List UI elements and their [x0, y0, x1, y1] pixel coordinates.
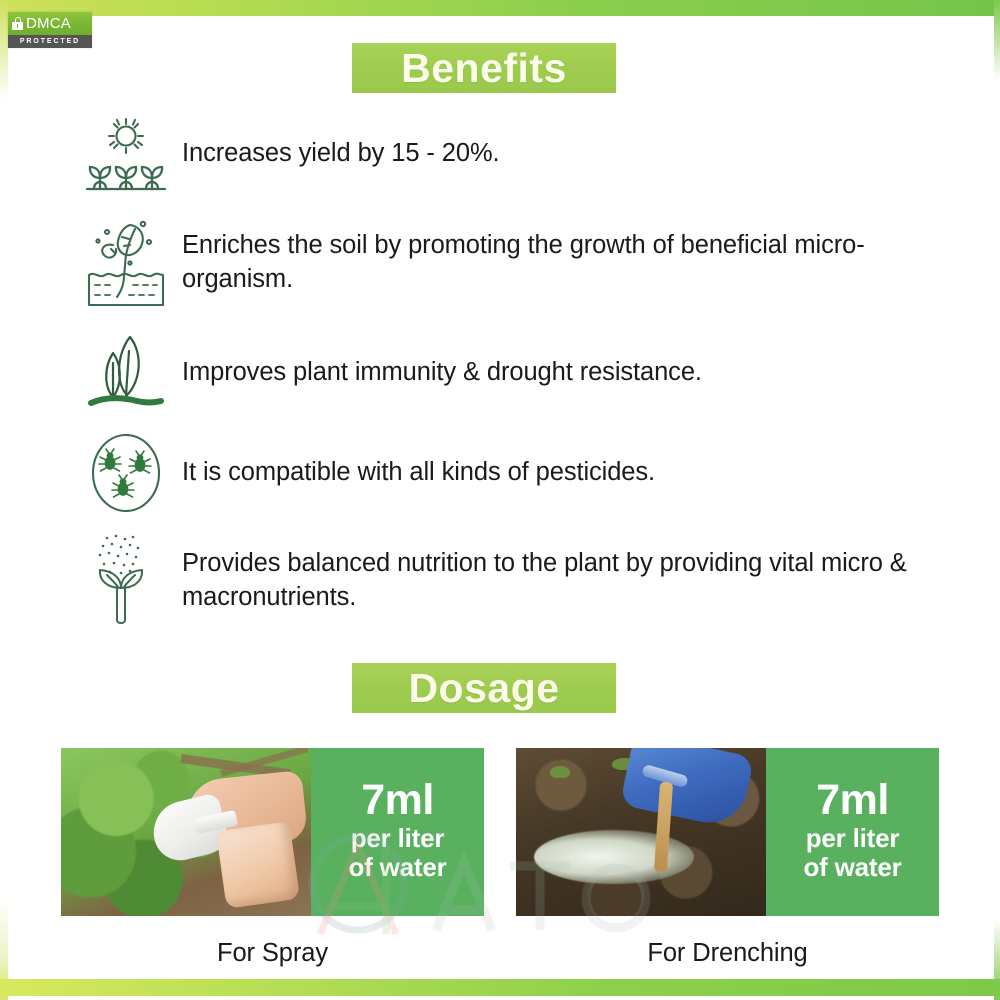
benefit-text: It is compatible with all kinds of pesti…	[174, 456, 655, 490]
top-border-strip	[0, 0, 1000, 16]
dosage-title: Dosage	[408, 668, 559, 709]
spray-over-plant-icon	[78, 532, 174, 630]
benefit-item: It is compatible with all kinds of pesti…	[78, 427, 958, 519]
dosage-card-spray: 7ml per liter of water For Spray	[61, 748, 484, 968]
dmca-badge-top: DMCA	[8, 12, 92, 35]
dosage-amount-panel: 7ml per liter of water	[766, 748, 939, 916]
dosage-card-caption: For Spray	[61, 939, 484, 968]
benefits-section-banner: Benefits	[352, 43, 616, 93]
dosage-unit-line-2: of water	[803, 853, 901, 881]
benefit-text: Increases yield by 15 - 20%.	[174, 137, 500, 171]
benefit-item: Increases yield by 15 - 20%.	[78, 108, 958, 200]
dosage-unit-line-1: per liter	[351, 824, 445, 852]
dosage-unit-line-2: of water	[348, 853, 446, 881]
dosage-section-banner: Dosage	[352, 663, 616, 713]
hand-spraying-plants-photo	[61, 748, 311, 916]
plant-in-soil-icon	[78, 215, 174, 311]
benefit-text: Enriches the soil by promoting the growt…	[174, 229, 958, 296]
benefit-item: Improves plant immunity & drought resist…	[78, 325, 958, 421]
sun-over-seedlings-icon	[78, 115, 174, 193]
two-leaves-icon	[78, 331, 174, 415]
dosage-card-caption: For Drenching	[516, 939, 939, 968]
benefit-text: Provides balanced nutrition to the plant…	[174, 547, 958, 614]
dosage-amount: 7ml	[361, 779, 434, 822]
lock-icon	[12, 17, 23, 30]
watering-can-drenching-soil-photo	[516, 748, 766, 916]
dosage-unit-line-1: per liter	[806, 824, 900, 852]
bottom-border-strip	[0, 979, 1000, 996]
benefit-text: Improves plant immunity & drought resist…	[174, 356, 702, 390]
benefit-item: Enriches the soil by promoting the growt…	[78, 206, 958, 319]
dmca-protected-badge[interactable]: DMCA PROTECTED	[8, 12, 92, 48]
benefits-list: Increases yield by 15 - 20%.	[78, 108, 958, 643]
dosage-amount: 7ml	[816, 779, 889, 822]
dosage-cards: 7ml per liter of water For Spray	[0, 748, 1000, 968]
dosage-amount-panel: 7ml per liter of water	[311, 748, 484, 916]
infographic-page: DMCA PROTECTED Benefits	[0, 0, 1000, 1000]
dmca-protected-label: PROTECTED	[8, 35, 92, 48]
benefits-title: Benefits	[401, 48, 567, 89]
insects-in-circle-icon	[78, 431, 174, 515]
dmca-label: DMCA	[26, 16, 71, 31]
dosage-card-body: 7ml per liter of water	[61, 748, 484, 916]
benefit-item: Provides balanced nutrition to the plant…	[78, 525, 958, 637]
dosage-card-body: 7ml per liter of water	[516, 748, 939, 916]
dosage-card-drenching: 7ml per liter of water For Drenching	[516, 748, 939, 968]
